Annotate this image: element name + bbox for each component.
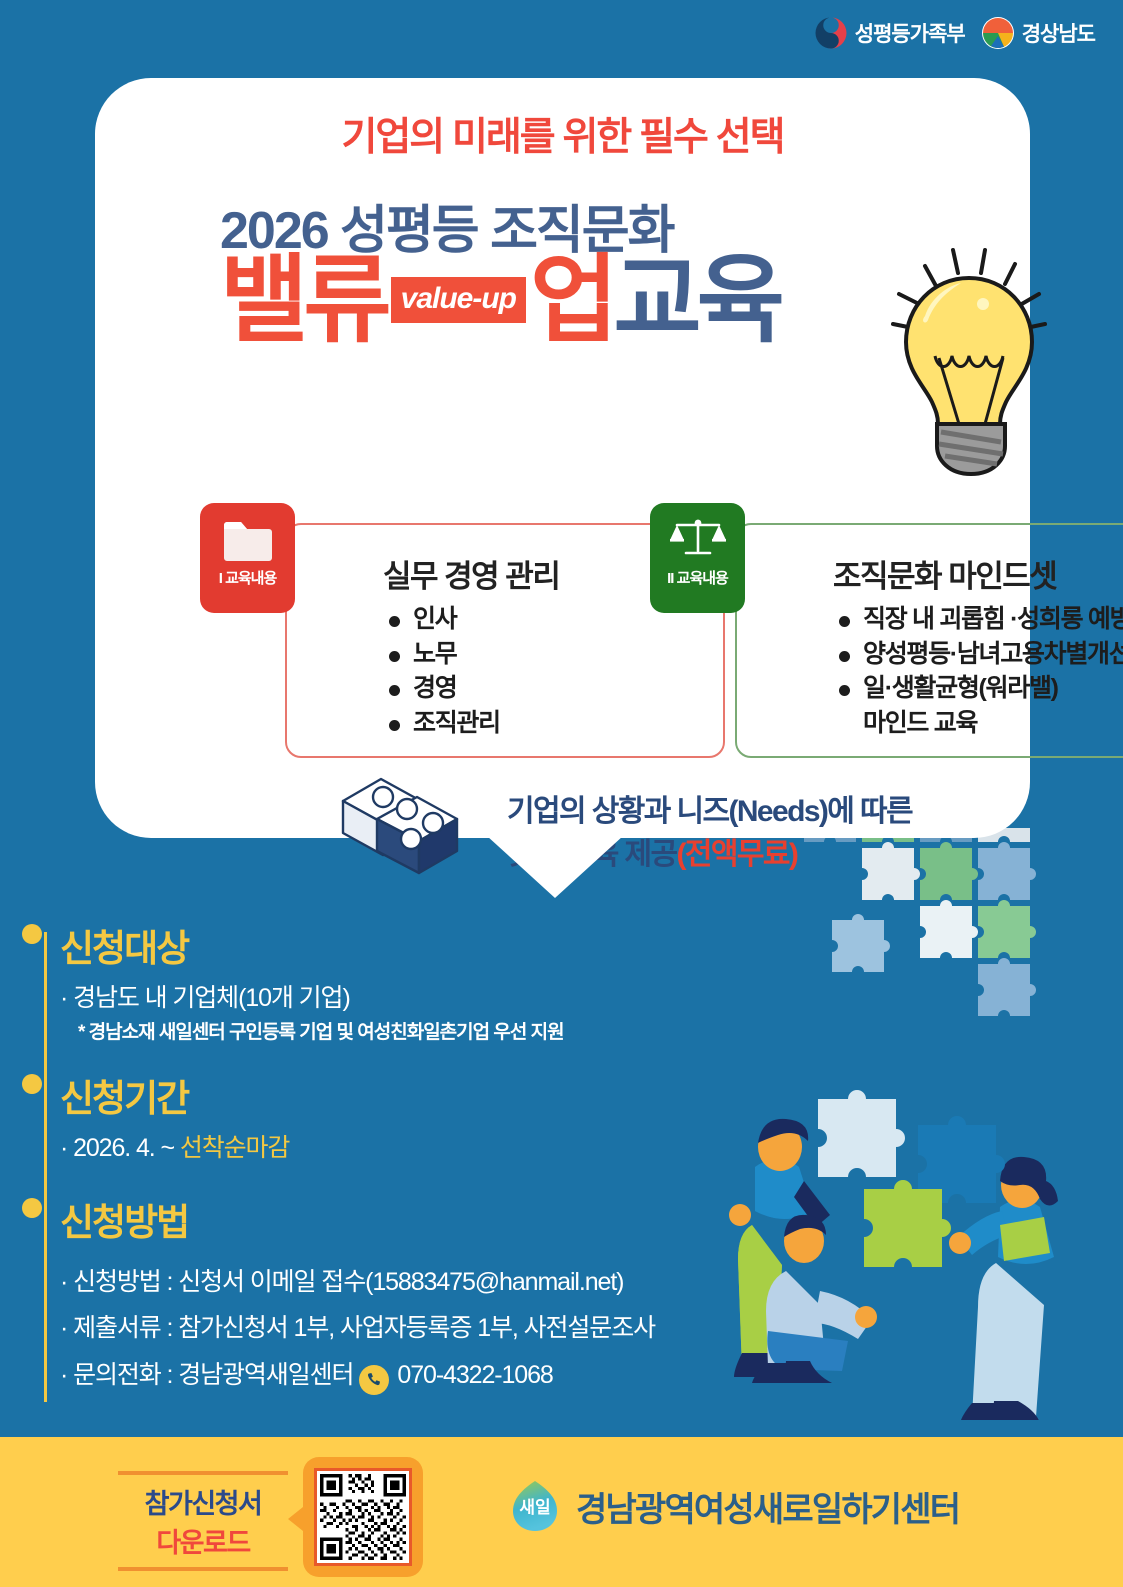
taegeuk-icon xyxy=(814,16,848,50)
main-card: 기업의 미래를 위한 필수 선택 2026 성평등 조직문화 밸류 value-… xyxy=(95,78,1030,838)
scales-icon xyxy=(670,517,726,563)
ministry-logo-text: 성평등가족부 xyxy=(855,18,965,48)
section-period-deadline: 선착순마감 xyxy=(180,1134,290,1162)
download-callout: 참가신청서 다운로드 xyxy=(118,1471,288,1571)
value-up-badge: value-up xyxy=(391,277,526,323)
teamwork-illustration xyxy=(700,1085,1120,1420)
seil-logo-icon: 새일 xyxy=(510,1479,560,1533)
center-brand-name: 경남광역여성새로일하기센터 xyxy=(576,1482,959,1531)
section-method-line-2: · 제출서류 : 참가신청서 1부, 사업자등록증 1부, 사전설문조사 xyxy=(60,1310,655,1346)
content-box-1-badge-label: I 교육내용 xyxy=(219,567,277,588)
footer-bar: 참가신청서 다운로드 xyxy=(0,1437,1123,1587)
content-box-2-badge-label: II 교육내용 xyxy=(667,567,728,588)
content-box-1-badge: I 교육내용 xyxy=(200,503,295,613)
list-item: 조직관리 xyxy=(383,706,703,741)
list-item-continued: 마인드 교육 xyxy=(833,706,1123,741)
section-period-line: · 2026. 4. ~ 선착순마감 xyxy=(60,1130,289,1166)
content-box-2-title: 조직문화 마인드셋 xyxy=(833,551,1123,596)
center-brand: 새일 경남광역여성새로일하기센터 xyxy=(510,1479,959,1533)
section-target: 신청대상 · 경남도 내 기업체(10개 기업) * 경남소재 새일센터 구인등… xyxy=(36,918,564,1044)
timeline-dot xyxy=(22,1074,42,1094)
folder-icon xyxy=(221,517,275,563)
puzzle-pieces-icon xyxy=(325,773,485,893)
hero-title-red1: 밸류 xyxy=(220,253,387,349)
list-item: 노무 xyxy=(383,637,703,672)
hero-title-red2: 업 xyxy=(530,253,613,349)
province-logo-text: 경상남도 xyxy=(1022,18,1095,48)
section-target-line: · 경남도 내 기업체(10개 기업) xyxy=(60,980,564,1016)
content-box-2-badge: II 교육내용 xyxy=(650,503,745,613)
qr-code-button[interactable] xyxy=(303,1457,423,1577)
section-method-heading: 신청방법 xyxy=(60,1192,655,1246)
province-logo: 경상남도 xyxy=(981,16,1095,50)
section-period-date: · 2026. 4. ~ xyxy=(60,1134,180,1162)
download-rule-top xyxy=(118,1471,288,1475)
section-method-body: · 신청방법 : 신청서 이메일 접수(15883475@hanmail.net… xyxy=(60,1264,655,1395)
qr-code-icon xyxy=(314,1468,412,1566)
card-speech-tail xyxy=(487,836,623,898)
timeline-dot xyxy=(22,924,42,944)
svg-text:새일: 새일 xyxy=(519,1498,550,1517)
content-box-2-body: 조직문화 마인드셋 직장 내 괴롭힘 ·성희롱 예방 양성평등·남녀고용차별개선… xyxy=(735,523,1123,758)
content-box-2-list: 직장 내 괴롭힘 ·성희롱 예방 양성평등·남녀고용차별개선 일·생활균형(워라… xyxy=(833,602,1123,740)
phone-icon xyxy=(359,1365,389,1395)
list-item: 양성평등·남녀고용차별개선 xyxy=(833,637,1123,672)
timeline-dot xyxy=(22,1198,42,1218)
download-rule-bottom xyxy=(118,1567,288,1571)
hero-kicker: 기업의 미래를 위한 필수 선택 xyxy=(95,106,1030,162)
lightbulb-icon xyxy=(863,228,1073,478)
ministry-logo: 성평등가족부 xyxy=(814,16,965,50)
download-line-1: 참가신청서 xyxy=(118,1482,288,1521)
section-target-body: · 경남도 내 기업체(10개 기업) * 경남소재 새일센터 구인등록 기업 … xyxy=(60,980,564,1044)
section-method-line-1: · 신청방법 : 신청서 이메일 접수(15883475@hanmail.net… xyxy=(60,1264,655,1300)
gyeongnam-emblem-icon xyxy=(981,16,1015,50)
content-box-1-list: 인사 노무 경영 조직관리 xyxy=(383,602,703,740)
list-item: 직장 내 괴롭힘 ·성희롱 예방 xyxy=(833,602,1123,637)
contact-label: · 문의전화 : 경남광역새일센터 xyxy=(60,1361,353,1389)
list-item: 경영 xyxy=(383,671,703,706)
hero-title-blue: 교육 xyxy=(613,253,780,349)
list-item: 일·생활균형(워라밸) xyxy=(833,671,1123,706)
contact-number: 070-4322-1068 xyxy=(397,1361,552,1389)
hero-title-line2: 밸류 value-up 업 교육 xyxy=(220,253,780,349)
download-line-2: 다운로드 xyxy=(118,1521,288,1560)
top-logo-row: 성평등가족부 경상남도 xyxy=(814,16,1095,50)
needs-free-highlight: (전액무료) xyxy=(676,838,797,871)
section-period-heading: 신청기간 xyxy=(60,1068,289,1122)
section-target-heading: 신청대상 xyxy=(60,918,564,972)
section-period: 신청기간 · 2026. 4. ~ 선착순마감 xyxy=(36,1068,289,1166)
needs-line-1: 기업의 상황과 니즈(Needs)에 따른 xyxy=(507,790,912,834)
section-method-contact: · 문의전화 : 경남광역새일센터070-4322-1068 xyxy=(60,1357,655,1395)
section-method: 신청방법 · 신청방법 : 신청서 이메일 접수(15883475@hanmai… xyxy=(36,1192,655,1405)
poster-root: 성평등가족부 경상남도 xyxy=(0,0,1123,1587)
section-period-body: · 2026. 4. ~ 선착순마감 xyxy=(60,1130,289,1166)
section-target-note: * 경남소재 새일센터 구인등록 기업 및 여성친화일촌기업 우선 지원 xyxy=(78,1017,564,1044)
